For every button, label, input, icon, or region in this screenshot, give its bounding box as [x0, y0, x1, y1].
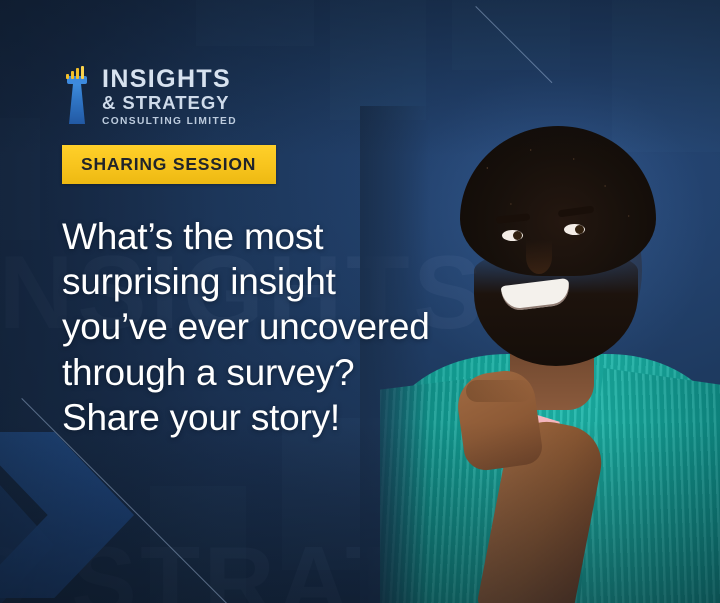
logo-wordmark: INSIGHTS & STRATEGY CONSULTING LIMITED — [102, 66, 237, 127]
headline-line-2: surprising insight — [62, 259, 492, 304]
headline-line-5: Share your story! — [62, 395, 492, 440]
status-badge: SHARING SESSION — [62, 145, 276, 184]
headline-line-1: What’s the most — [62, 214, 492, 259]
content-block: INSIGHTS & STRATEGY CONSULTING LIMITED S… — [62, 66, 492, 440]
headline-line-3: you’ve ever uncovered — [62, 304, 492, 349]
bar-chart-icon — [66, 66, 84, 79]
brand-logo[interactable]: INSIGHTS & STRATEGY CONSULTING LIMITED — [62, 66, 492, 127]
logo-tagline: CONSULTING LIMITED — [102, 116, 237, 127]
headline: What’s the most surprising insight you’v… — [62, 214, 492, 440]
logo-name-line-1: INSIGHTS — [102, 67, 237, 92]
social-card: INSIGHTS & STRATEGY CONSULTING — [0, 0, 720, 603]
logo-name-line-2: & STRATEGY — [102, 93, 237, 113]
lighthouse-chart-icon — [62, 66, 92, 124]
logo-column-shape — [69, 82, 85, 124]
headline-line-4: through a survey? — [62, 350, 492, 395]
